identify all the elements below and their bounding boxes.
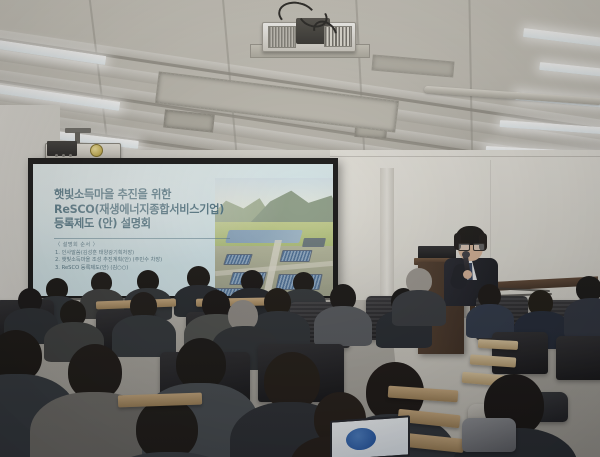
projector-lens — [90, 144, 103, 157]
presenter-glasses — [458, 243, 483, 249]
chair — [556, 336, 600, 380]
slide-agenda-item: 2. 햇빛소득마을 조성 추진계획(안) (주민수 차장) — [55, 257, 255, 265]
slide-divider — [54, 238, 230, 239]
slide-agenda: 〈 설명회 순서 〉 1. 인사말씀(김성훈 태양광기획처장) 2. 햇빛소득마… — [55, 242, 255, 272]
laptop — [330, 418, 406, 457]
ceiling-light — [523, 28, 600, 52]
microphone-head — [462, 251, 470, 258]
ceiling-light — [539, 62, 600, 81]
slide-agenda-heading: 〈 설명회 순서 〉 — [55, 242, 255, 250]
slide-title: 햇빛소득마을 추진을 위한 ReSCO(재생에너지종합서비스기업) 등록제도 (… — [54, 188, 259, 232]
ceiling-vent — [163, 109, 215, 132]
ceiling-vent — [371, 54, 454, 77]
chair — [492, 332, 548, 374]
wall-seam — [330, 156, 600, 157]
wall-column — [380, 168, 394, 298]
projection-screen-frame: 햇빛소득마을 추진을 위한 ReSCO(재생에너지종합서비스기업) 등록제도 (… — [28, 158, 338, 298]
slide-title-line-3: 등록제도 (안) 설명회 — [54, 217, 259, 232]
slide-title-line-2: ReSCO(재생에너지종합서비스기업) — [54, 203, 259, 218]
backpack — [462, 418, 516, 452]
slide-title-line-1: 햇빛소득마을 추진을 위한 — [54, 188, 259, 203]
projector-vent-left — [268, 26, 296, 48]
projection-screen: 햇빛소득마을 추진을 위한 ReSCO(재생에너지종합서비스기업) 등록제도 (… — [33, 164, 333, 296]
presenter-hand — [463, 270, 472, 279]
ceiling-projector — [236, 8, 364, 54]
lecture-hall-photo: 햇빛소득마을 추진을 위한 ReSCO(재생에너지종합서비스기업) 등록제도 (… — [0, 0, 600, 457]
slide-agenda-item: 3. ReSCO 등록제도(안) (김○○) — [55, 265, 255, 273]
